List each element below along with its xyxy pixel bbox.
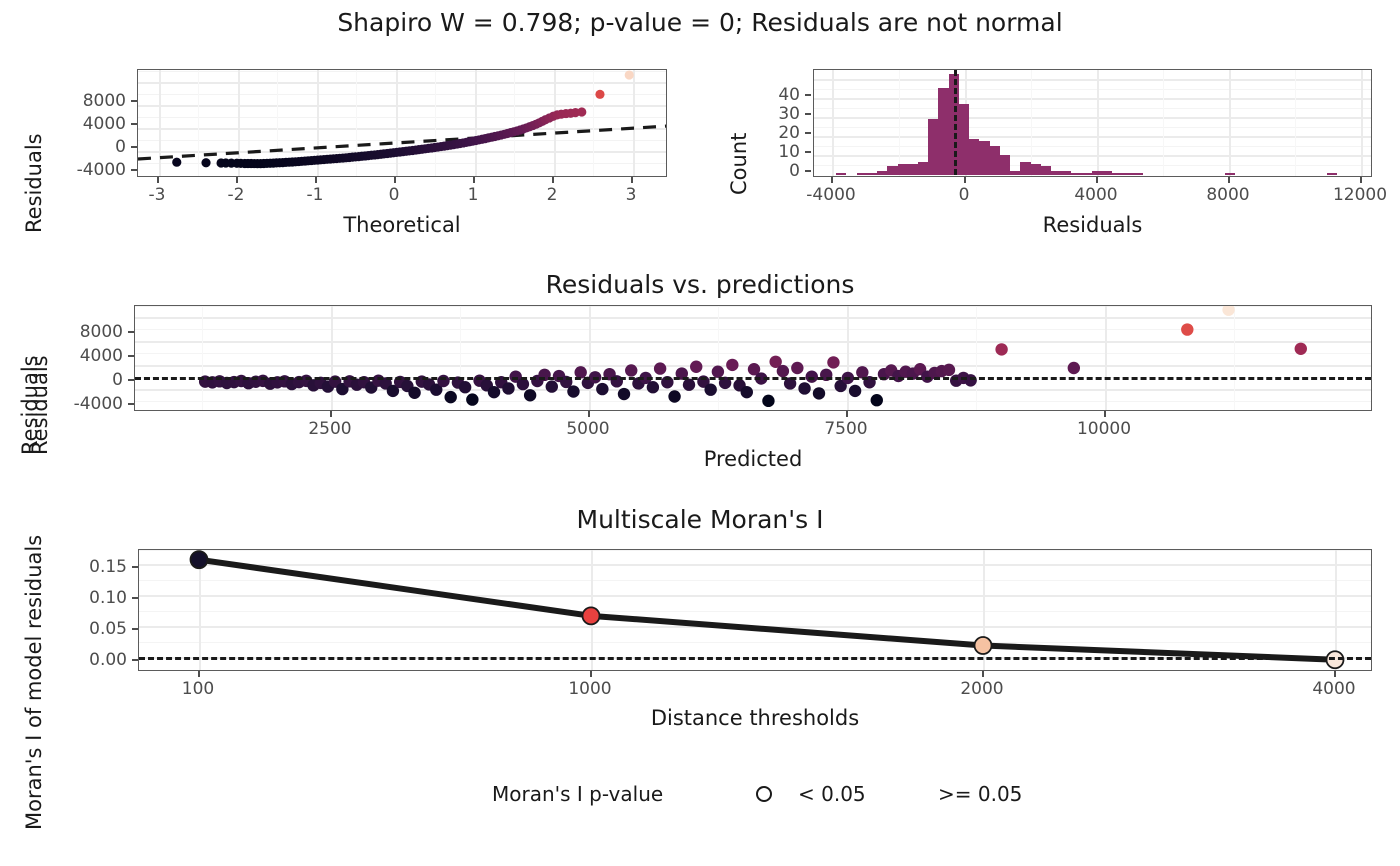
histogram-bar bbox=[867, 173, 877, 175]
residuals-xlabel: Predicted bbox=[134, 447, 1372, 471]
histogram-bar bbox=[1071, 173, 1081, 175]
moran-xtick bbox=[590, 671, 592, 677]
qq-plot-panel-group: Residuals -4000 0 4000 8000 bbox=[0, 55, 700, 250]
residuals-xtick bbox=[330, 411, 332, 417]
hist-xtick bbox=[964, 177, 966, 183]
histogram-bar bbox=[959, 104, 969, 175]
legend: Moran's I p-value < 0.05 >= 0.05 bbox=[0, 782, 1400, 822]
hist-reference-line bbox=[954, 70, 957, 175]
legend-label-significant: < 0.05 bbox=[798, 782, 866, 806]
residuals-ytick-label: -4000 bbox=[35, 394, 123, 414]
moran-xtick-label: 4000 bbox=[1284, 679, 1384, 699]
hist-ytick bbox=[805, 170, 811, 172]
histogram-bar bbox=[1051, 171, 1061, 175]
moran-xtick bbox=[982, 671, 984, 677]
histogram-bar bbox=[1133, 173, 1143, 175]
qq-points bbox=[172, 70, 634, 168]
residuals-xtick bbox=[1104, 411, 1106, 417]
residuals-xtick-label: 10000 bbox=[1049, 419, 1159, 439]
moran-panel-group: Multiscale Moran's I Moran's I of model … bbox=[0, 500, 1400, 735]
residuals-xtick bbox=[588, 411, 590, 417]
histogram-bar bbox=[979, 141, 989, 175]
hist-xtick-label: -4000 bbox=[776, 185, 886, 205]
moran-xtick bbox=[198, 671, 200, 677]
histogram-bars-layer bbox=[814, 70, 1372, 177]
moran-reference-line bbox=[139, 657, 1371, 660]
histogram-bar bbox=[836, 173, 846, 175]
qq-xtick-label: 0 bbox=[364, 185, 424, 205]
hist-xtick bbox=[1228, 177, 1230, 183]
hist-xtick bbox=[831, 177, 833, 183]
moran-xtick-label: 1000 bbox=[540, 679, 640, 699]
moran-plot-panel bbox=[138, 549, 1372, 671]
histogram-bar bbox=[877, 171, 887, 175]
histogram-bar bbox=[990, 146, 1000, 175]
qq-xtick-label: 2 bbox=[522, 185, 582, 205]
legend-glyph-significant[interactable] bbox=[756, 786, 772, 802]
moran-line-layer bbox=[139, 550, 1372, 671]
residuals-ytick-label: 0 bbox=[35, 370, 123, 390]
histogram-bar bbox=[938, 88, 948, 175]
hist-ytick-label: 40 bbox=[742, 85, 800, 105]
moran-xtick-label: 100 bbox=[148, 679, 248, 699]
histogram-bar bbox=[1020, 162, 1030, 175]
moran-panel-title: Multiscale Moran's I bbox=[0, 505, 1400, 534]
histogram-bar bbox=[1225, 173, 1235, 175]
figure-main-title: Shapiro W = 0.798; p-value = 0; Residual… bbox=[0, 8, 1400, 37]
moran-xlabel: Distance thresholds bbox=[138, 706, 1372, 730]
histogram-bar bbox=[1031, 164, 1041, 175]
histogram-bar bbox=[1041, 166, 1051, 175]
hist-xtick bbox=[1096, 177, 1098, 183]
hist-xtick-label: 4000 bbox=[1041, 185, 1151, 205]
qq-xlabel: Theoretical bbox=[137, 213, 667, 237]
residuals-scatter-layer bbox=[135, 306, 1372, 411]
hist-xtick-label: 12000 bbox=[1305, 185, 1400, 205]
hist-ytick-label: 20 bbox=[742, 123, 800, 143]
qq-xtick-label: 3 bbox=[601, 185, 661, 205]
qq-xtick bbox=[394, 177, 396, 183]
residuals-ytick-label: 8000 bbox=[35, 322, 123, 342]
histogram-bar bbox=[1061, 171, 1071, 175]
histogram-bar bbox=[887, 166, 897, 175]
residuals-panel-title: Residuals vs. predictions bbox=[0, 270, 1400, 299]
histogram-bar bbox=[1112, 173, 1122, 175]
residuals-ytick-label: 4000 bbox=[35, 346, 123, 366]
qq-ytick-label: -4000 bbox=[38, 160, 126, 180]
qq-plot-panel bbox=[137, 69, 667, 177]
histogram-panel bbox=[813, 69, 1372, 177]
hist-ytick-label: 10 bbox=[742, 142, 800, 162]
histogram-bar bbox=[1123, 173, 1133, 175]
qq-ytick-label: 0 bbox=[38, 137, 126, 157]
histogram-bar bbox=[1000, 155, 1010, 175]
hist-ytick-label: 0 bbox=[742, 161, 800, 181]
residuals-points bbox=[199, 305, 1307, 407]
moran-ytick-label: 0.15 bbox=[55, 557, 127, 577]
hist-xlabel: Residuals bbox=[813, 213, 1372, 237]
moran-line bbox=[199, 560, 1335, 660]
residuals-xtick-label: 5000 bbox=[533, 419, 643, 439]
residuals-reference-line bbox=[135, 377, 1371, 380]
residuals-xtick-label: 2500 bbox=[275, 419, 385, 439]
qq-ytick-label: 4000 bbox=[38, 114, 126, 134]
qq-xtick bbox=[315, 177, 317, 183]
qq-xtick bbox=[631, 177, 633, 183]
moran-data-point[interactable] bbox=[583, 607, 600, 624]
residuals-xtick-label: 7500 bbox=[791, 419, 901, 439]
qq-xtick bbox=[157, 177, 159, 183]
moran-ytick-label: 0.05 bbox=[55, 619, 127, 639]
qq-xtick-label: -2 bbox=[206, 185, 266, 205]
histogram-bar bbox=[1102, 171, 1112, 175]
hist-ytick-label: 30 bbox=[742, 104, 800, 124]
histogram-bar bbox=[928, 119, 938, 175]
moran-series bbox=[191, 551, 1344, 668]
residuals-xtick bbox=[846, 411, 848, 417]
hist-ytick bbox=[805, 113, 811, 115]
moran-xtick bbox=[1334, 671, 1336, 677]
legend-title: Moran's I p-value bbox=[492, 782, 663, 806]
residuals-plot-panel bbox=[134, 305, 1372, 411]
hist-xtick-label: 8000 bbox=[1173, 185, 1283, 205]
moran-xtick-label: 2000 bbox=[932, 679, 1032, 699]
legend-label-nonsignificant: >= 0.05 bbox=[938, 782, 1022, 806]
qq-xtick-label: -3 bbox=[127, 185, 187, 205]
qq-xtick bbox=[236, 177, 238, 183]
hist-xtick-label: 0 bbox=[909, 185, 1019, 205]
hist-ytick bbox=[805, 94, 811, 96]
qq-xtick-label: -1 bbox=[285, 185, 345, 205]
moran-ytick-label: 0.10 bbox=[55, 588, 127, 608]
histogram-bar bbox=[969, 139, 979, 175]
histogram-bar bbox=[918, 162, 928, 175]
hist-ytick bbox=[805, 151, 811, 153]
moran-ytick-label: 0.00 bbox=[55, 650, 127, 670]
qq-xtick bbox=[473, 177, 475, 183]
qq-xtick-label: 1 bbox=[443, 185, 503, 205]
legend-glyph-nonsignificant[interactable] bbox=[898, 786, 914, 802]
qq-ytick-label: 8000 bbox=[38, 91, 126, 111]
moran-data-point[interactable] bbox=[191, 551, 208, 568]
residuals-panel-group: Residuals vs. predictions Residuals Resi… bbox=[0, 265, 1400, 480]
histogram-bar bbox=[857, 173, 867, 175]
moran-data-point[interactable] bbox=[975, 637, 992, 654]
qq-scatter-layer bbox=[138, 70, 667, 177]
histogram-panel-group: Count 0 10 20 30 40 bbox=[700, 55, 1400, 250]
histogram-bar bbox=[1092, 171, 1102, 175]
histogram-bar bbox=[1327, 173, 1337, 175]
histogram-bar bbox=[908, 164, 918, 175]
hist-ytick bbox=[805, 132, 811, 134]
histogram-bar bbox=[1010, 171, 1020, 175]
hist-xtick bbox=[1360, 177, 1362, 183]
histogram-bar bbox=[1082, 173, 1092, 175]
qq-xtick bbox=[552, 177, 554, 183]
histogram-bar bbox=[898, 164, 908, 175]
